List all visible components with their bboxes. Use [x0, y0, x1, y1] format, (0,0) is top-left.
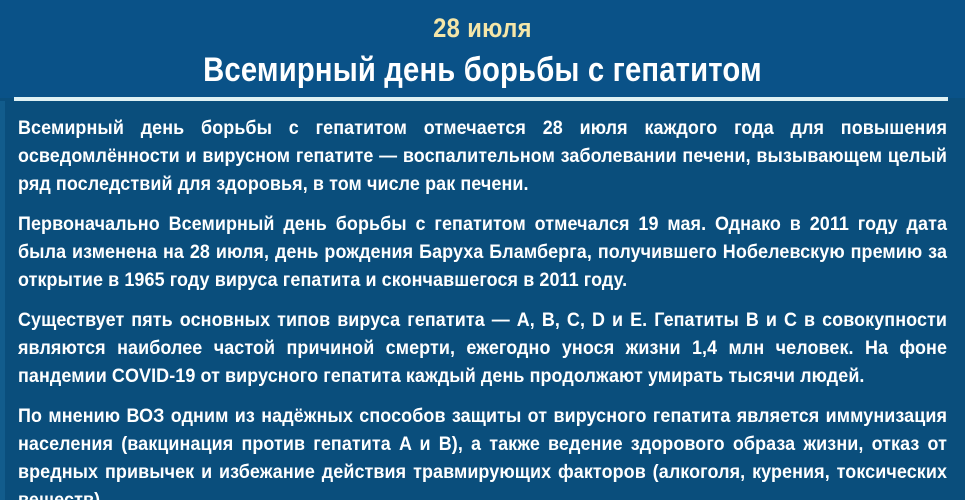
page-title: Всемирный день борьбы с гепатитом [68, 49, 898, 91]
body-paragraph: Первоначально Всемирный день борьбы с ге… [18, 210, 947, 294]
body-paragraph: Всемирный день борьбы с гепатитом отмеча… [18, 114, 947, 198]
body-paragraph: По мнению ВОЗ одним из надёжных способов… [18, 402, 947, 500]
infographic-poster: 28 июля Всемирный день борьбы с гепатито… [0, 0, 965, 500]
body-paragraph: Существует пять основных типов вируса ге… [18, 306, 947, 390]
header-date: 28 июля [58, 13, 907, 43]
poster-header: 28 июля Всемирный день борьбы с гепатито… [0, 0, 965, 98]
poster-body: Всемирный день борьбы с гепатитом отмеча… [0, 101, 965, 500]
